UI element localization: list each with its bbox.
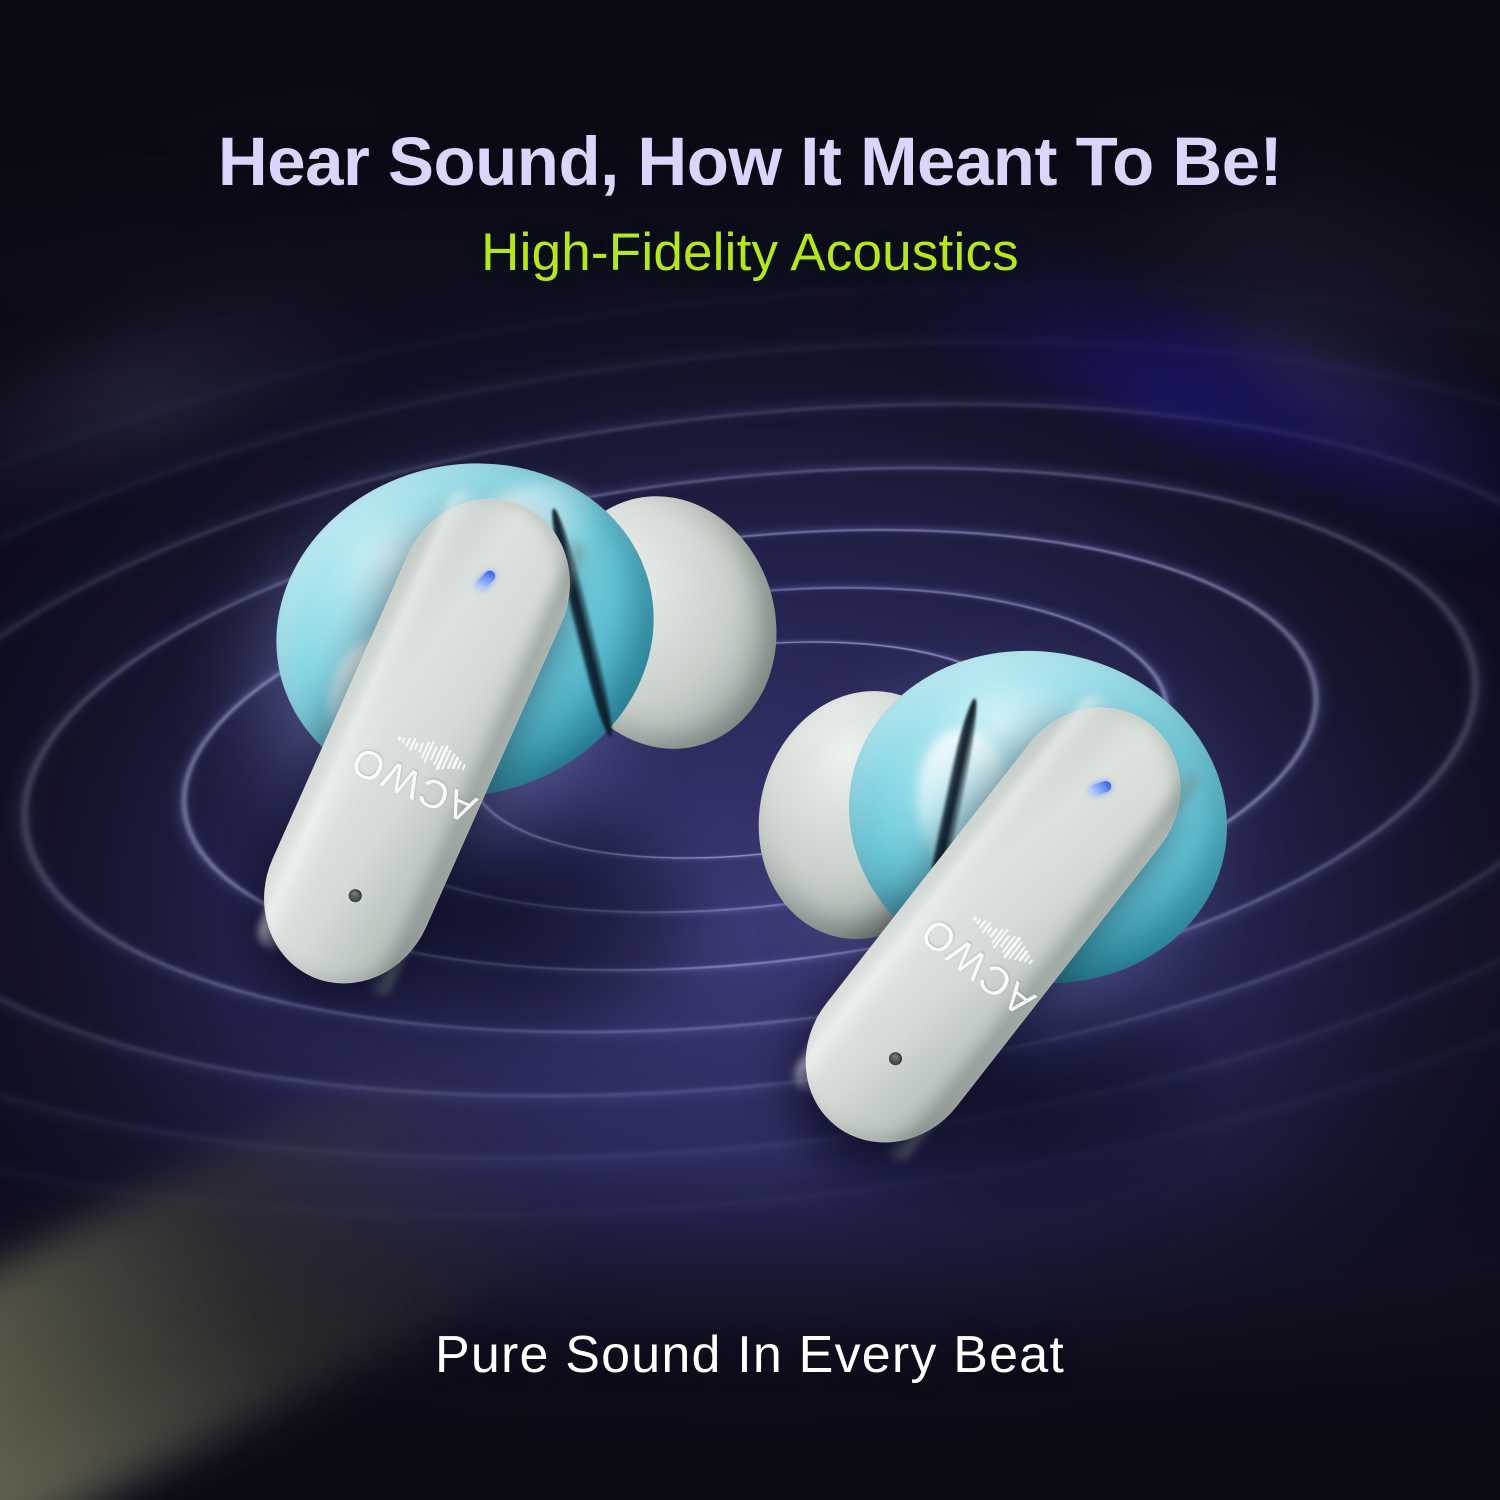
right-led-indicator [1088, 780, 1112, 797]
left-earbud: ACWO [255, 455, 775, 1035]
left-led-indicator [474, 568, 497, 591]
left-mic-hole [347, 887, 364, 904]
left-brand-logo: ACWO [345, 713, 494, 830]
page-headline: Hear Sound, How It Meant To Be! [0, 126, 1500, 198]
background-top-shade [0, 0, 1500, 400]
promo-canvas: ACWO ACWO [0, 0, 1500, 1500]
page-tagline: Pure Sound In Every Beat [0, 1325, 1500, 1385]
page-subheadline: High-Fidelity Acoustics [0, 222, 1500, 283]
right-earbud: ACWO [760, 640, 1280, 1230]
right-mic-hole [886, 1050, 904, 1068]
